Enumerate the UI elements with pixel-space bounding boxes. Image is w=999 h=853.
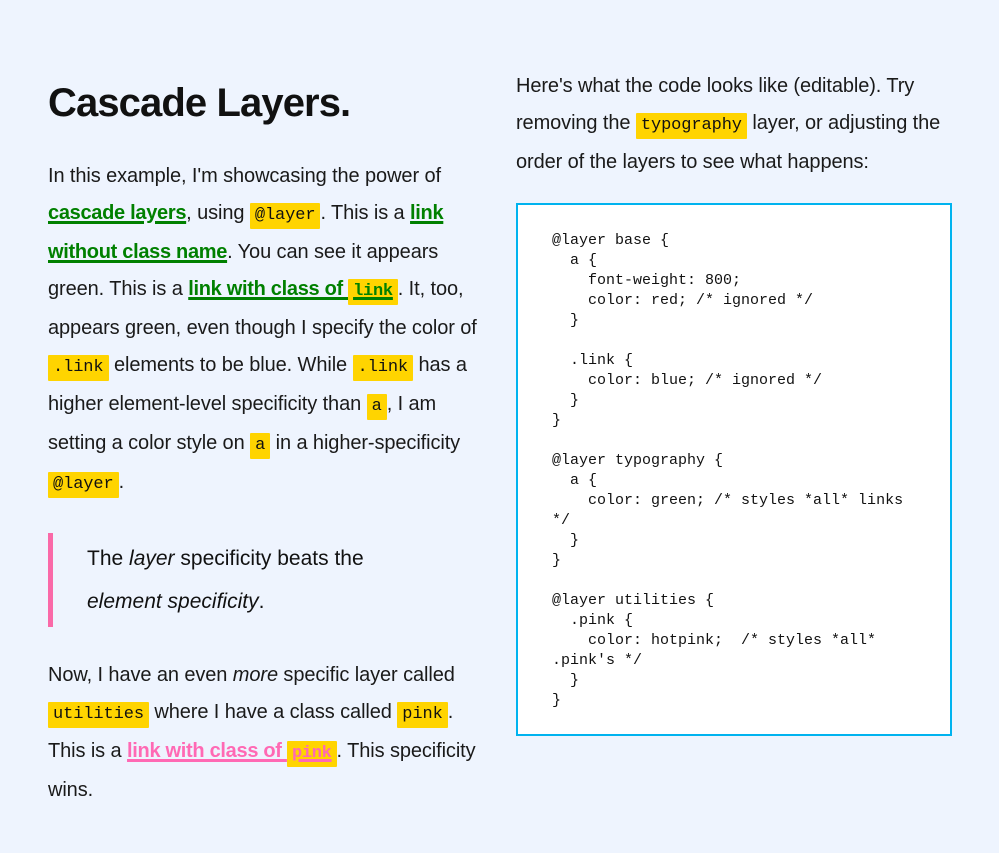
intro-paragraph: In this example, I'm showcasing the powe… <box>48 158 478 503</box>
link-cascade-layers[interactable]: cascade layers <box>48 202 186 224</box>
link-with-class-of-pink[interactable]: link with class of pink <box>127 740 337 762</box>
link-with-class-of-pink-label: link with class of <box>127 740 287 762</box>
code-editor-panel[interactable]: @layer base { a { font-weight: 800; colo… <box>516 203 952 736</box>
quote-emphasis-layer: layer <box>129 547 175 570</box>
quote-text-2: specificity beats the <box>175 547 364 570</box>
quote-text-1: The <box>87 547 129 570</box>
paragraph2-text-2: specific layer called <box>278 664 455 686</box>
code-a-2: a <box>250 433 270 459</box>
code-utilities: utilities <box>48 702 149 728</box>
quote-emphasis-element-specificity: element specificity <box>87 590 259 613</box>
utilities-paragraph: Now, I have an even more specific layer … <box>48 657 478 809</box>
code-dot-link-2: .link <box>353 355 414 381</box>
link-with-class-of-link[interactable]: link with class of link <box>188 278 398 300</box>
paragraph2-text-3: where I have a class called <box>149 701 397 723</box>
paragraph1-text-3: . This is a <box>320 202 410 224</box>
code-editor-content[interactable]: @layer base { a { font-weight: 800; colo… <box>552 231 930 711</box>
paragraph2-text-1: Now, I have an even <box>48 664 233 686</box>
code-dot-link-1: .link <box>48 355 109 381</box>
right-column: Here's what the code looks like (editabl… <box>516 68 952 736</box>
paragraph1-text-2: , using <box>186 202 250 224</box>
code-intro-paragraph: Here's what the code looks like (editabl… <box>516 68 952 181</box>
code-at-layer-1: @layer <box>250 203 321 229</box>
paragraph1-text-10: . <box>119 471 124 493</box>
code-link-inline: link <box>348 279 398 305</box>
paragraph2-emphasis-more: more <box>233 664 278 686</box>
code-typography: typography <box>636 113 747 139</box>
paragraph1-text-1: In this example, I'm showcasing the powe… <box>48 165 441 187</box>
page-root: Cascade Layers. In this example, I'm sho… <box>0 0 999 853</box>
blockquote-layer-specificity: The layer specificity beats the element … <box>48 533 378 627</box>
left-column: Cascade Layers. In this example, I'm sho… <box>48 82 478 809</box>
paragraph1-text-9: in a higher-specificity <box>270 432 460 454</box>
paragraph1-text-6: elements to be blue. While <box>109 354 353 376</box>
page-title: Cascade Layers. <box>48 82 478 124</box>
link-with-class-of-link-label: link with class of <box>188 278 348 300</box>
code-pink-2: pink <box>287 741 337 767</box>
quote-text-3: . <box>259 590 265 613</box>
code-a-1: a <box>367 394 387 420</box>
code-pink-1: pink <box>397 702 447 728</box>
code-at-layer-2: @layer <box>48 472 119 498</box>
